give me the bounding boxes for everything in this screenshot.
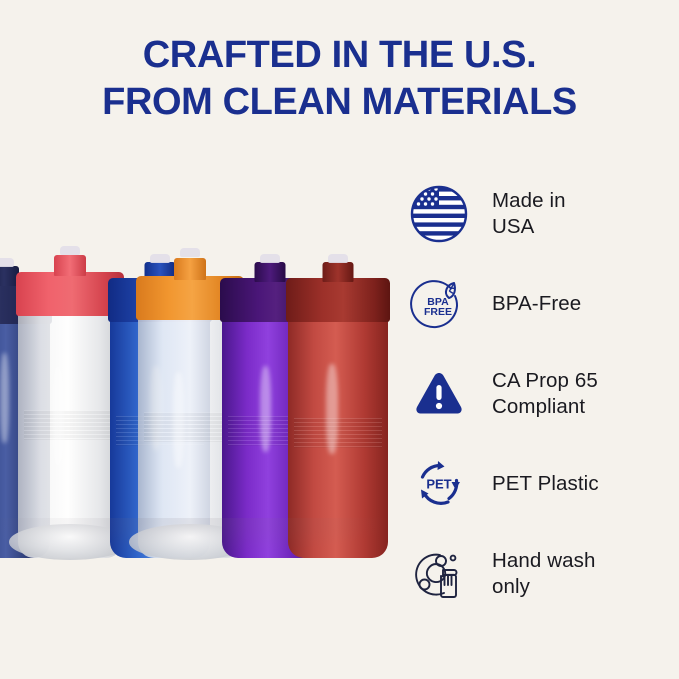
bottle-nozzle <box>255 262 286 282</box>
feature-ca-prop-65: CA Prop 65 Compliant <box>408 358 670 430</box>
bottle-nozzle <box>174 258 206 280</box>
bottle-tip <box>260 254 280 263</box>
bottle-clear-red-cap <box>18 246 122 558</box>
bottle-tip <box>328 254 348 263</box>
feature-label: CA Prop 65 Compliant <box>492 368 598 420</box>
bottle-tip <box>60 246 80 255</box>
feature-label-line-2: only <box>492 574 595 600</box>
bottle-highlight <box>173 372 184 468</box>
marketing-poster: CRAFTED IN THE U.S. FROM CLEAN MATERIALS <box>0 0 679 679</box>
feature-bpa-free: BPA FREE BPA-Free <box>408 268 670 340</box>
product-photo <box>0 228 400 558</box>
bottle-highlight <box>53 366 64 466</box>
bottle-nozzle <box>54 255 86 276</box>
feature-label-line-1: BPA-Free <box>492 291 581 317</box>
usa-flag-circle-icon <box>408 183 470 245</box>
warning-triangle-icon <box>408 363 470 425</box>
feature-label: BPA-Free <box>492 291 581 317</box>
bottle-tip <box>180 248 200 257</box>
bottle-highlight <box>260 366 271 452</box>
feature-label-line-1: Hand wash <box>492 548 595 574</box>
bottle-tip <box>0 258 14 267</box>
feature-hand-wash-only: Hand wash only <box>408 538 670 610</box>
headline-line-2: FROM CLEAN MATERIALS <box>0 79 679 126</box>
bottle-grip-ribs <box>24 410 116 440</box>
feature-label: Hand wash only <box>492 548 595 600</box>
feature-label-line-2: Compliant <box>492 394 598 420</box>
pet-icon-text: PET <box>426 477 451 492</box>
headline-line-1: CRAFTED IN THE U.S. <box>0 32 679 79</box>
bottle-nozzle <box>323 262 354 282</box>
feature-pet-plastic: PET PET Plastic <box>408 448 670 520</box>
feature-label-line-1: Made in <box>492 188 566 214</box>
page-title: CRAFTED IN THE U.S. FROM CLEAN MATERIALS <box>0 32 679 126</box>
feature-label: PET Plastic <box>492 471 599 497</box>
bottle-red <box>288 260 388 558</box>
bpa-free-icon: BPA FREE <box>408 273 470 335</box>
feature-label-line-1: PET Plastic <box>492 471 599 497</box>
pet-recycle-icon: PET <box>408 453 470 515</box>
bottle-highlight <box>0 353 9 443</box>
bottle-grip-ribs <box>294 418 382 448</box>
hand-wash-icon <box>408 543 470 605</box>
feature-list: Made in USA BPA FREE BPA-Free <box>408 178 670 610</box>
bpa-icon-text-line-2: FREE <box>424 306 452 318</box>
bottle-highlight <box>326 364 338 454</box>
feature-label-line-1: CA Prop 65 <box>492 368 598 394</box>
feature-label: Made in USA <box>492 188 566 240</box>
floor-shadow <box>0 518 400 558</box>
feature-made-in-usa: Made in USA <box>408 178 670 250</box>
bottle-cap <box>286 278 390 322</box>
feature-label-line-2: USA <box>492 214 566 240</box>
